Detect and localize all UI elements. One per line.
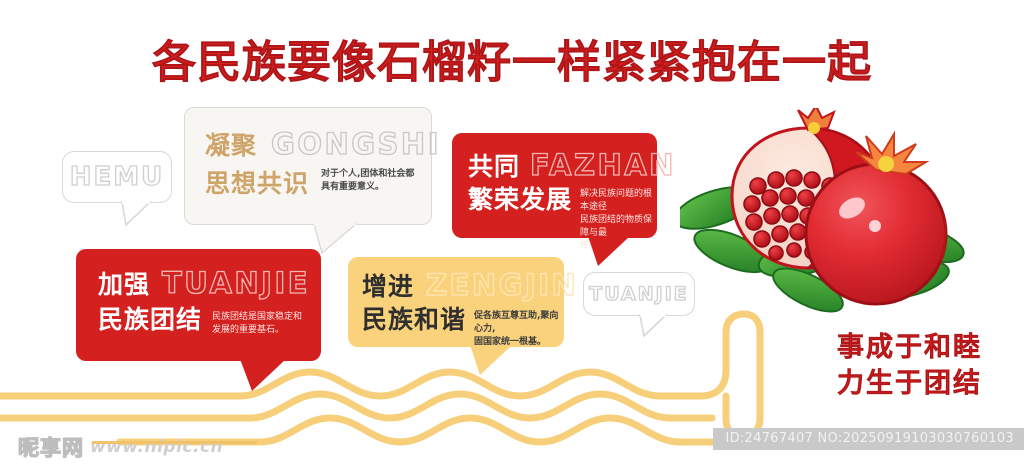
bubble-fazhan-cn1: 共同 [468, 154, 520, 179]
bubble-tuanjie-cn2: 民族团结 [98, 307, 202, 332]
bubble-tuanjie-pinyin: TUANJIE [162, 269, 310, 298]
slogan-line-1: 事成于和睦 [837, 330, 982, 366]
bubble-zengjin-tail [470, 345, 514, 377]
bubble-fazhan-tail [588, 236, 632, 268]
bubble-hemu-label: HEMU [70, 162, 165, 192]
bubble-gongshi-desc: 对于个人,团体和社会都 具有重要意义。 [321, 168, 414, 196]
bubble-fazhan[interactable]: 共同 FAZHAN 繁荣发展 解决民族问题的根本途径 民族团结的物质保障与最 终… [452, 133, 657, 238]
watermark-accent-bar [92, 441, 257, 444]
watermark-brand: 昵享网 [18, 432, 84, 462]
page-title: 各民族要像石榴籽一样紧紧抱在一起 [0, 26, 1024, 90]
bubble-tuanjie-desc: 民族团结是国家稳定和 发展的重要基石。 [212, 311, 302, 337]
bubble-zengjin-cn1: 增进 [362, 274, 414, 299]
bubble-hemu-tail [120, 201, 152, 227]
bubble-fazhan-pinyin: FAZHAN [530, 151, 676, 180]
bubble-gongshi-pinyin: GONGSHI [271, 130, 441, 159]
watermark: 昵享网 www.nipic.cn [18, 432, 223, 462]
bubble-tuanjie-ghost-tail [638, 314, 668, 338]
bubble-tuanjie-ghost[interactable]: TUANJIE [583, 272, 695, 316]
bubble-tuanjie[interactable]: 加强 TUANJIE 民族团结 民族团结是国家稳定和 发展的重要基石。 [76, 249, 321, 361]
bubble-fazhan-cn2: 繁荣发展 [468, 187, 572, 212]
watermark-url: www.nipic.cn [90, 437, 223, 457]
bubble-zengjin[interactable]: 增进 ZENGJIN 民族和谐 促各族互尊互助,聚向心力, 固国家统一根基。 [348, 257, 564, 347]
bubble-tuanjie-tail [240, 359, 288, 393]
slogan: 事成于和睦 力生于团结 [837, 330, 982, 403]
bubble-hemu[interactable]: HEMU [62, 151, 172, 203]
bubble-gongshi[interactable]: 凝聚 GONGSHI 思想共识 对于个人,团体和社会都 具有重要意义。 [184, 107, 432, 225]
bubble-gongshi-cn2: 思想共识 [205, 171, 309, 196]
bubble-tuanjie-ghost-label: TUANJIE [589, 283, 689, 305]
bubble-zengjin-desc: 促各族互尊互助,聚向心力, 固国家统一根基。 [474, 310, 564, 349]
bubble-zengjin-pinyin: ZENGJIN [426, 271, 578, 300]
bubble-tuanjie-cn1: 加强 [98, 272, 150, 297]
slogan-line-2: 力生于团结 [837, 366, 982, 402]
image-id-badge: ID:24767407 NO:20250919103030760103 [713, 428, 1024, 450]
pomegranate-illustration [680, 108, 985, 323]
bubble-zengjin-cn2: 民族和谐 [362, 307, 466, 332]
bubble-gongshi-cn1: 凝聚 [205, 133, 257, 158]
poster-canvas: 各民族要像石榴籽一样紧紧抱在一起 [0, 0, 1024, 472]
